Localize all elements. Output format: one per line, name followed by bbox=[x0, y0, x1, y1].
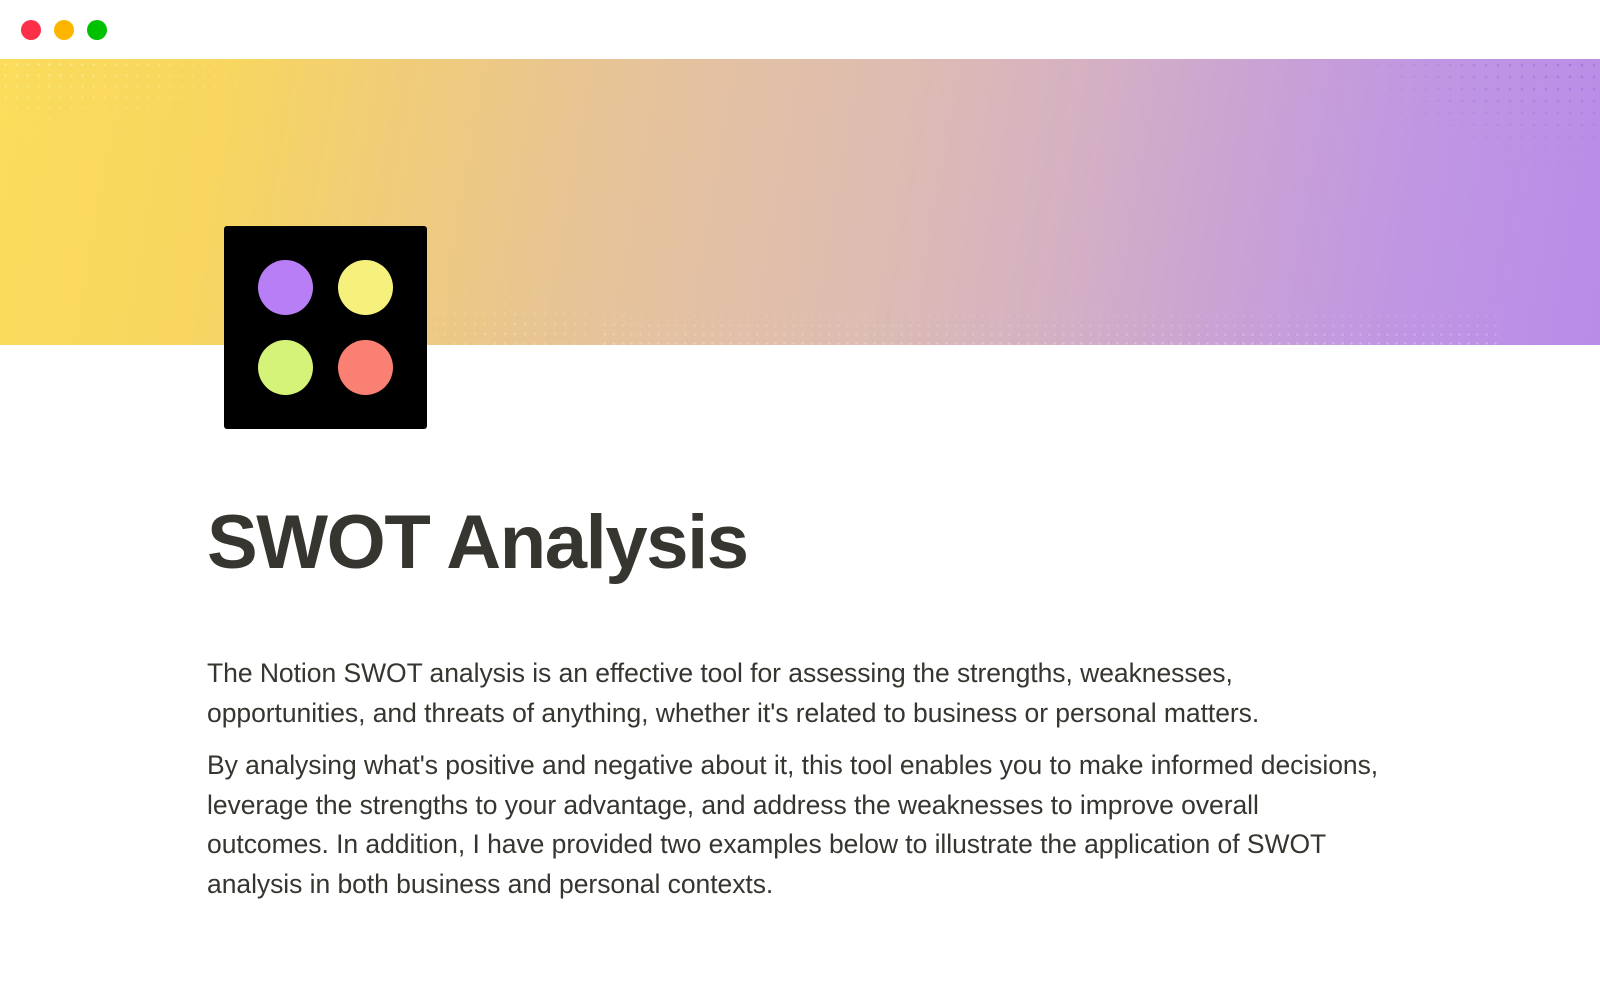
cover-texture-bottom bbox=[600, 285, 1500, 345]
cover-texture-right bbox=[1240, 59, 1600, 209]
page-title[interactable]: SWOT Analysis bbox=[207, 505, 748, 581]
page-icon[interactable] bbox=[224, 226, 427, 429]
salmon-circle-icon bbox=[338, 340, 393, 395]
lime-circle-icon bbox=[258, 340, 313, 395]
description-paragraph[interactable]: By analysing what's positive and negativ… bbox=[207, 746, 1387, 904]
yellow-circle-icon bbox=[338, 260, 393, 315]
maximize-window-button[interactable] bbox=[87, 20, 107, 40]
page-content: The Notion SWOT analysis is an effective… bbox=[207, 654, 1387, 904]
traffic-light-controls bbox=[21, 20, 107, 40]
close-window-button[interactable] bbox=[21, 20, 41, 40]
cover-texture-left bbox=[0, 59, 420, 179]
minimize-window-button[interactable] bbox=[54, 20, 74, 40]
intro-paragraph[interactable]: The Notion SWOT analysis is an effective… bbox=[207, 654, 1307, 733]
app-window: SWOT Analysis The Notion SWOT analysis i… bbox=[0, 0, 1600, 1000]
window-titlebar bbox=[0, 0, 1600, 59]
purple-circle-icon bbox=[258, 260, 313, 315]
